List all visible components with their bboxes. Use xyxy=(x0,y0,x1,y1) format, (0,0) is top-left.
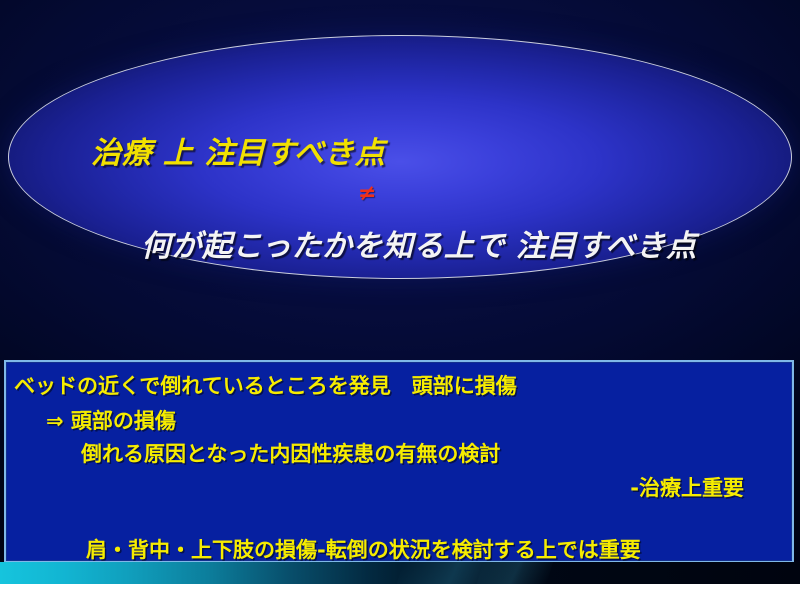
ellipse-subtitle-text: 何が起こったかを知る上で 注目すべき点 xyxy=(141,221,697,265)
content-line-4: -治療上重要 xyxy=(630,472,744,502)
content-line-2: ⇒ 頭部の損傷 xyxy=(46,405,176,435)
content-box-lines: ベッドの近くで倒れているところを発見 頭部に損傷 ⇒ 頭部の損傷 倒れる原因とな… xyxy=(6,362,792,561)
headline-ellipse: 治療 上 注目すべき点 ≠ 何が起こったかを知る上で 注目すべき点 xyxy=(8,35,792,279)
presentation-slide: 治療 上 注目すべき点 ≠ 何が起こったかを知る上で 注目すべき点 ベッドの近く… xyxy=(0,0,800,591)
ellipse-title-text: 治療 上 注目すべき点 xyxy=(91,128,385,172)
band-streak-right xyxy=(477,562,553,584)
content-box: ベッドの近くで倒れているところを発見 頭部に損傷 ⇒ 頭部の損傷 倒れる原因とな… xyxy=(4,360,794,563)
content-line-1: ベッドの近くで倒れているところを発見 頭部に損傷 xyxy=(14,370,517,400)
slide-footer-strip xyxy=(0,584,800,591)
content-line-5: 肩・背中・上下肢の損傷-転倒の状況を検討する上では重要 xyxy=(86,534,641,564)
content-line-3: 倒れる原因となった内因性疾患の有無の検討 xyxy=(81,438,500,468)
not-equal-icon: ≠ xyxy=(358,181,377,206)
